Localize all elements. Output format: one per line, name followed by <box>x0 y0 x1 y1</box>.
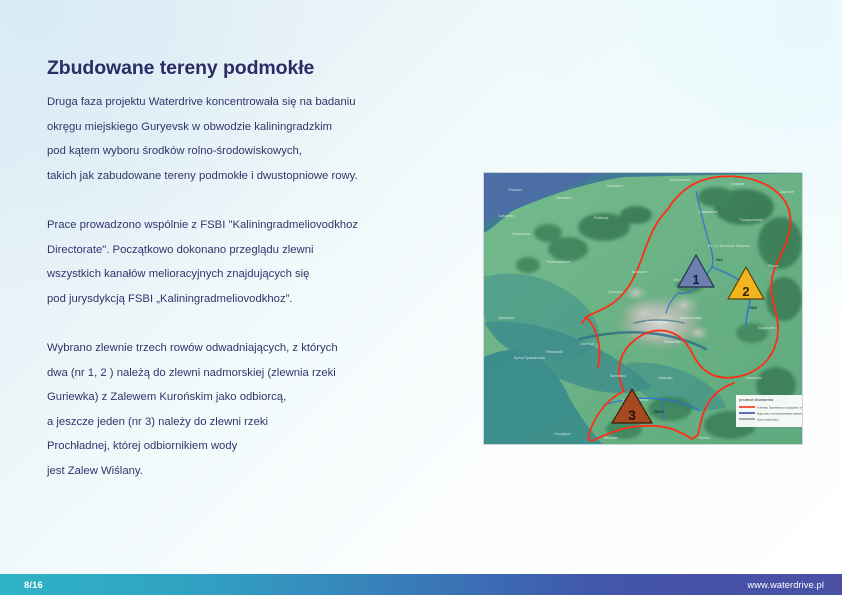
svg-text:Знаменск: Знаменск <box>664 340 680 344</box>
svg-text:№2: №2 <box>716 257 723 262</box>
paragraph-3: Wybrano zlewnie trzech rowów odwadniając… <box>47 336 447 484</box>
svg-text:Светлый: Светлый <box>580 342 595 346</box>
svg-text:Суворово: Суворово <box>498 214 514 218</box>
page-title: Zbudowane tereny podmokłe <box>47 57 314 80</box>
svg-text:3: 3 <box>628 407 636 423</box>
body-text-column: Druga faza projektu Waterdrive koncentro… <box>47 90 447 484</box>
svg-text:Большаково: Большаково <box>670 178 691 182</box>
svg-text:Громово: Громово <box>730 182 744 186</box>
paragraph-line: jest Zalew Wiślany. <box>47 459 447 484</box>
svg-text:Ветрово: Ветрово <box>604 436 618 440</box>
paragraph-line: Prace prowadzono wspólnie z FSBI "Kalini… <box>47 213 447 238</box>
svg-text:№ 1 п. Большое Морское: № 1 п. Большое Морское <box>708 244 750 248</box>
svg-text:Заречье: Заречье <box>780 190 794 194</box>
paragraph-line: Wybrano zlewnie trzech rowów odwadniając… <box>47 336 447 361</box>
paragraph-line: Druga faza projektu Waterdrive koncentro… <box>47 90 447 115</box>
svg-text:Большое: Большое <box>632 270 647 274</box>
svg-text:Зоны водосбора: Зоны водосбора <box>757 417 779 421</box>
svg-text:Рыбачье: Рыбачье <box>594 216 609 220</box>
svg-text:Ясное: Ясное <box>768 264 778 268</box>
map-image: Полесск Заливино Головкино Большаково Гр… <box>484 173 802 444</box>
paragraph-line: dwa (nr 1, 2 ) należą do zlewni nadmorsk… <box>47 361 447 386</box>
svg-text:Ладушкин: Ладушкин <box>758 326 775 330</box>
svg-text:условные обозначения: условные обозначения <box>739 398 773 402</box>
paragraph-line: a jeszcze jeden (nr 3) należy do zlewni … <box>47 410 447 435</box>
map-canvas: Полесск Заливино Головкино Большаково Гр… <box>484 173 802 444</box>
svg-text:Заливино: Заливино <box>556 196 572 200</box>
svg-text:Калиново: Калиново <box>746 376 762 380</box>
paragraph-line: Directorate". Początkowo dokonano przegl… <box>47 238 447 263</box>
paragraph-line: pod kątem wyboru środków rolno-środowisk… <box>47 139 447 164</box>
paragraph-2: Prace prowadzono wspólnie z FSBI "Kalini… <box>47 213 447 311</box>
svg-text:Ушаково: Ушаково <box>658 376 672 380</box>
paragraph-line: wszystkich kanałów melioracyjnych znajdu… <box>47 262 447 287</box>
svg-text:Кaлининград: Кaлининград <box>646 320 668 324</box>
svg-text:Янтарный: Янтарный <box>546 350 563 354</box>
svg-text:№5.1: №5.1 <box>654 409 665 414</box>
paragraph-spacer <box>47 188 447 213</box>
svg-text:Границы Гурьевского городского: Границы Гурьевского городского округа <box>757 405 802 409</box>
svg-text:Приморск: Приморск <box>498 316 515 320</box>
svg-text:Придорожное: Придорожное <box>740 218 763 222</box>
map-legend: условные обозначения Границы Гурьевского… <box>736 395 802 427</box>
paragraph-line: pod jurysdykcją FSBI „Kaliningradmeliovo… <box>47 287 447 312</box>
svg-text:Водотоки и мелиоративные канал: Водотоки и мелиоративные каналы <box>757 411 802 415</box>
svg-text:Бухта Приморская: Бухта Приморская <box>514 356 545 360</box>
svg-text:Полесск: Полесск <box>508 188 522 192</box>
paragraph-line: Prochładnej, której odbiornikiem wody <box>47 434 447 459</box>
svg-text:2: 2 <box>742 284 749 299</box>
svg-text:Саранское: Саранское <box>512 232 530 236</box>
paragraph-spacer <box>47 311 447 336</box>
footer-bar: 8/16 www.waterdrive.pl <box>0 574 842 595</box>
footer-website-url[interactable]: www.waterdrive.pl <box>747 580 824 590</box>
svg-text:Балтийск: Балтийск <box>610 374 626 378</box>
svg-text:1: 1 <box>692 272 699 287</box>
svg-text:Переславское: Переславское <box>546 260 570 264</box>
svg-text:Славянское: Славянское <box>698 210 718 214</box>
paragraph-1: Druga faza projektu Waterdrive koncentro… <box>47 90 447 188</box>
slide-number: 8/16 <box>24 580 43 590</box>
svg-text:Гурьевск: Гурьевск <box>608 290 623 294</box>
slide: Zbudowane tereny podmokłe Druga faza pro… <box>0 0 842 595</box>
paragraph-line: Guriewka) z Zalewem Kurońskim jako odbio… <box>47 385 447 410</box>
svg-text:Отрадное: Отрадное <box>554 432 571 436</box>
svg-text:№3: №3 <box>750 305 757 310</box>
svg-text:Головкино: Головкино <box>606 184 623 188</box>
svg-text:Разино: Разино <box>698 436 710 440</box>
paragraph-line: okręgu miejskiego Guryevsk w obwodzie ka… <box>47 115 447 140</box>
paragraph-line: takich jak zabudowane tereny podmokłe i … <box>47 164 447 189</box>
svg-text:Южный округ: Южный округ <box>680 316 703 320</box>
